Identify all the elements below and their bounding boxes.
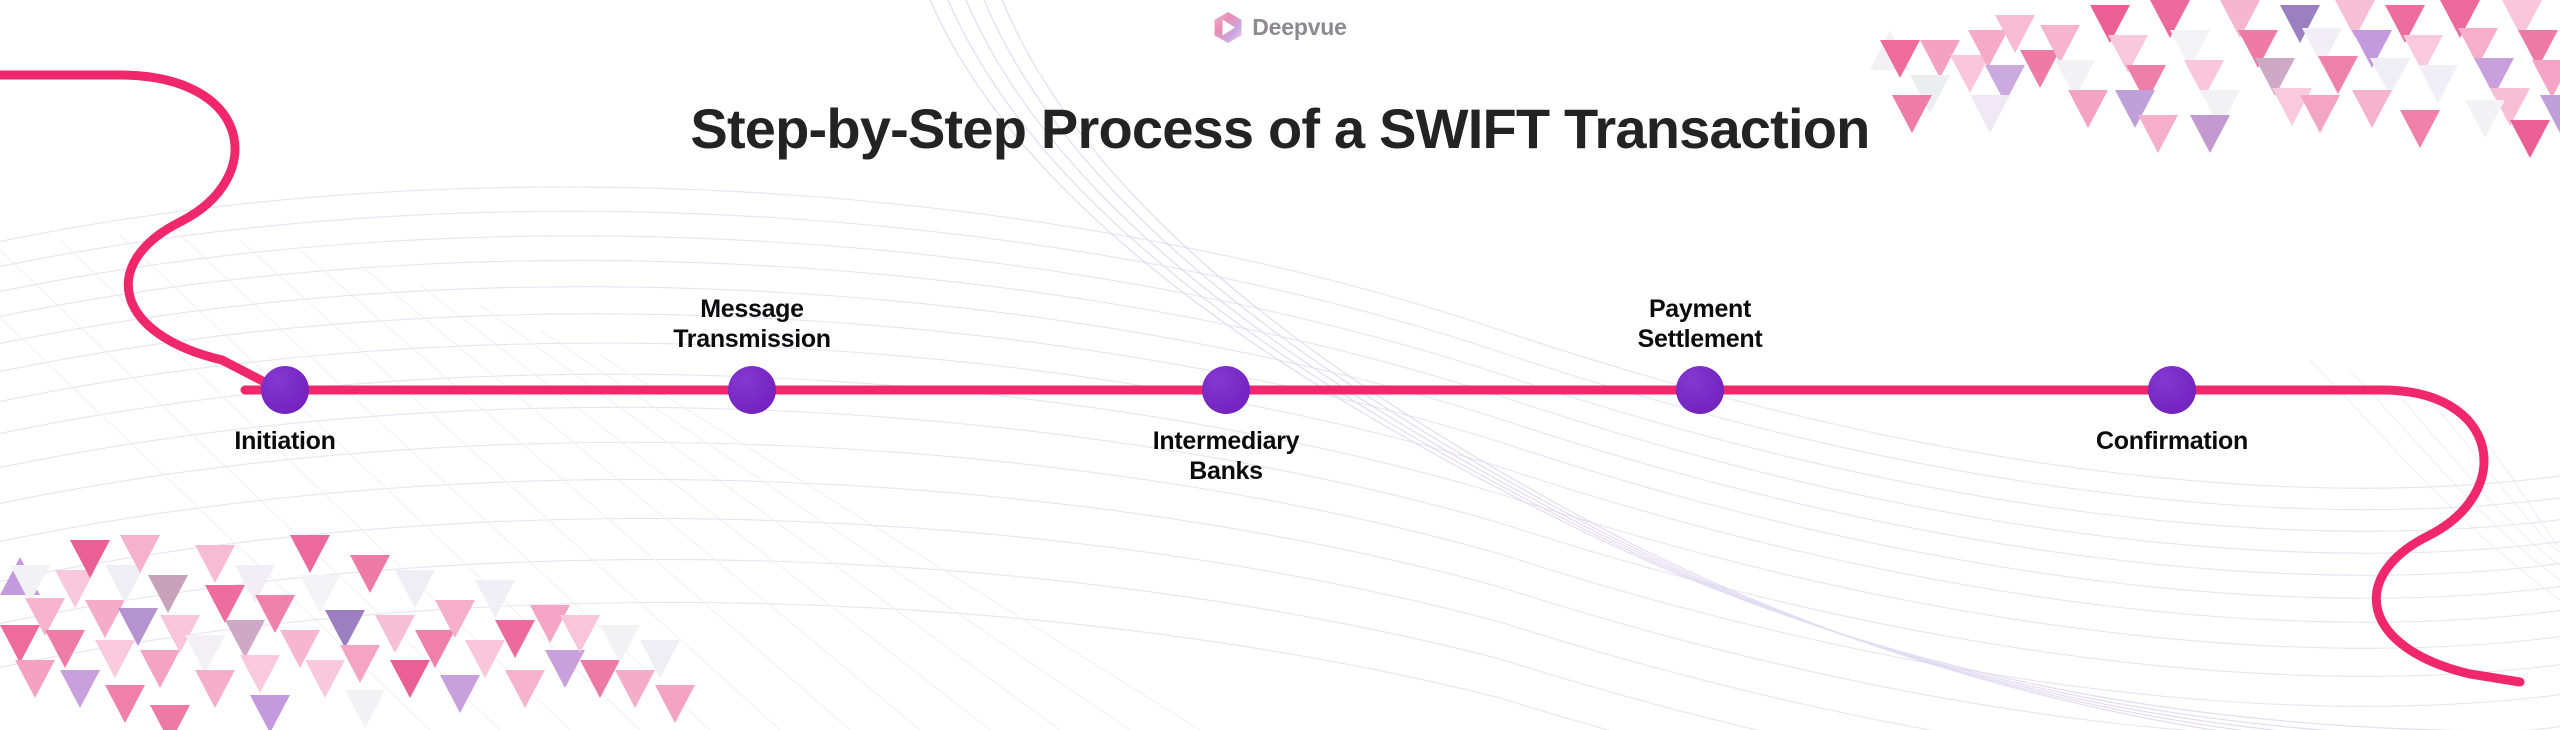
timeline-label-1: Initiation (234, 427, 335, 457)
timeline-node-2[interactable] (728, 366, 776, 414)
timeline-label-4: Payment Settlement (1638, 295, 1763, 354)
infographic-canvas: Deepvue Step-by-Step Process of a SWIFT … (0, 0, 2560, 730)
timeline-label-5: Confirmation (2096, 427, 2248, 457)
timeline-label-2: Message Transmission (673, 295, 831, 354)
brand-name: Deepvue (1252, 16, 1346, 39)
brand-logo: Deepvue (0, 11, 2560, 44)
timeline-node-1[interactable] (261, 366, 309, 414)
timeline-label-3: Intermediary Banks (1153, 427, 1299, 486)
timeline-node-4[interactable] (1676, 366, 1724, 414)
hexagon-play-icon (1213, 11, 1243, 44)
timeline-node-3[interactable] (1202, 366, 1250, 414)
page-title: Step-by-Step Process of a SWIFT Transact… (0, 96, 2560, 161)
timeline-node-5[interactable] (2148, 366, 2196, 414)
